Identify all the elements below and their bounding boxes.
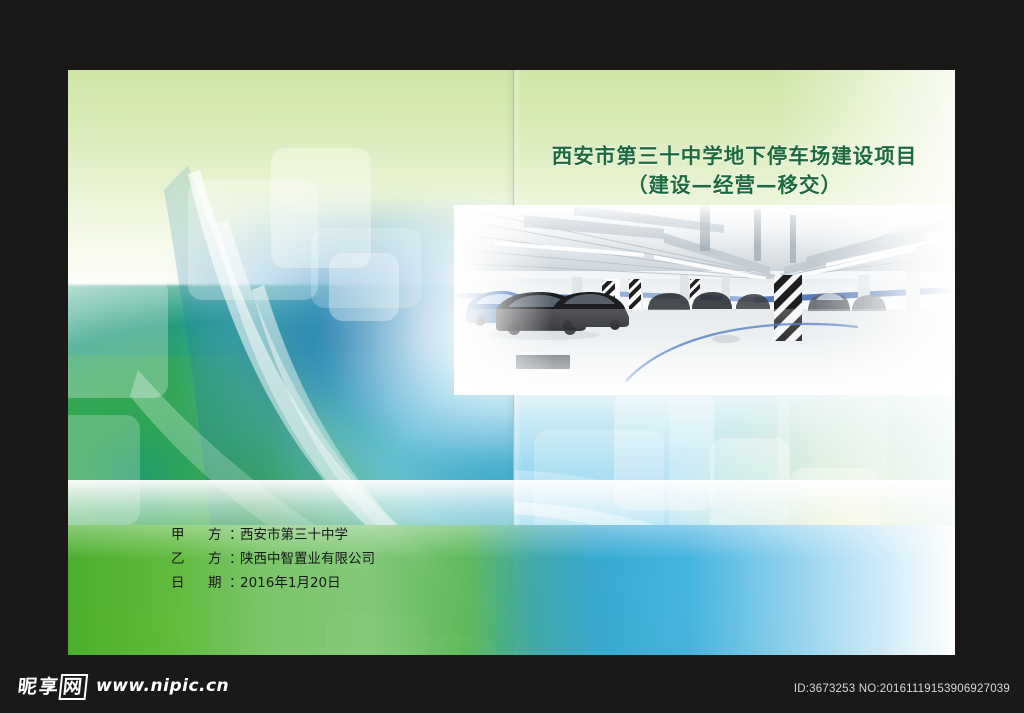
party-value: 陕西中智置业有限公司 bbox=[240, 547, 375, 571]
decor-square bbox=[68, 278, 168, 398]
logo-url-text: www.nipic.cn bbox=[96, 676, 229, 696]
site-logo[interactable]: 昵享网 www.nipic.cn bbox=[18, 672, 229, 699]
party-label: 乙 方 bbox=[171, 547, 229, 571]
screenshot-stage: 西安市第三十中学地下停车场建设项目 （建设—经营—移交） 特许经营协议 甲 方 … bbox=[0, 0, 1024, 713]
photo-edge-fade bbox=[454, 205, 954, 395]
party-colon: ： bbox=[229, 571, 240, 595]
party-row: 甲 方 ： 西安市第三十中学 bbox=[171, 523, 375, 547]
logo-cn-text: 昵享网 bbox=[17, 672, 89, 699]
party-colon: ： bbox=[229, 547, 240, 571]
watermark-footer: 昵享网 www.nipic.cn ID:3673253 NO:201611191… bbox=[0, 655, 1024, 713]
asset-id-text: ID:3673253 NO:20161119153906927039 bbox=[794, 683, 1010, 695]
parties-block: 甲 方 ： 西安市第三十中学 乙 方 ： 陕西中智置业有限公司 日 期 ： 20… bbox=[171, 523, 375, 595]
title-line-2: （建设—经营—移交） bbox=[514, 170, 955, 200]
party-value: 2016年1月20日 bbox=[240, 571, 341, 595]
party-label: 日 期 bbox=[171, 571, 229, 595]
party-row: 乙 方 ： 陕西中智置业有限公司 bbox=[171, 547, 375, 571]
decor-square bbox=[329, 253, 399, 321]
party-label: 甲 方 bbox=[171, 523, 229, 547]
party-colon: ： bbox=[229, 523, 240, 547]
parking-garage-photo bbox=[454, 205, 954, 395]
party-row: 日 期 ： 2016年1月20日 bbox=[171, 571, 375, 595]
title-line-1: 西安市第三十中学地下停车场建设项目 bbox=[514, 142, 955, 170]
party-value: 西安市第三十中学 bbox=[240, 523, 348, 547]
